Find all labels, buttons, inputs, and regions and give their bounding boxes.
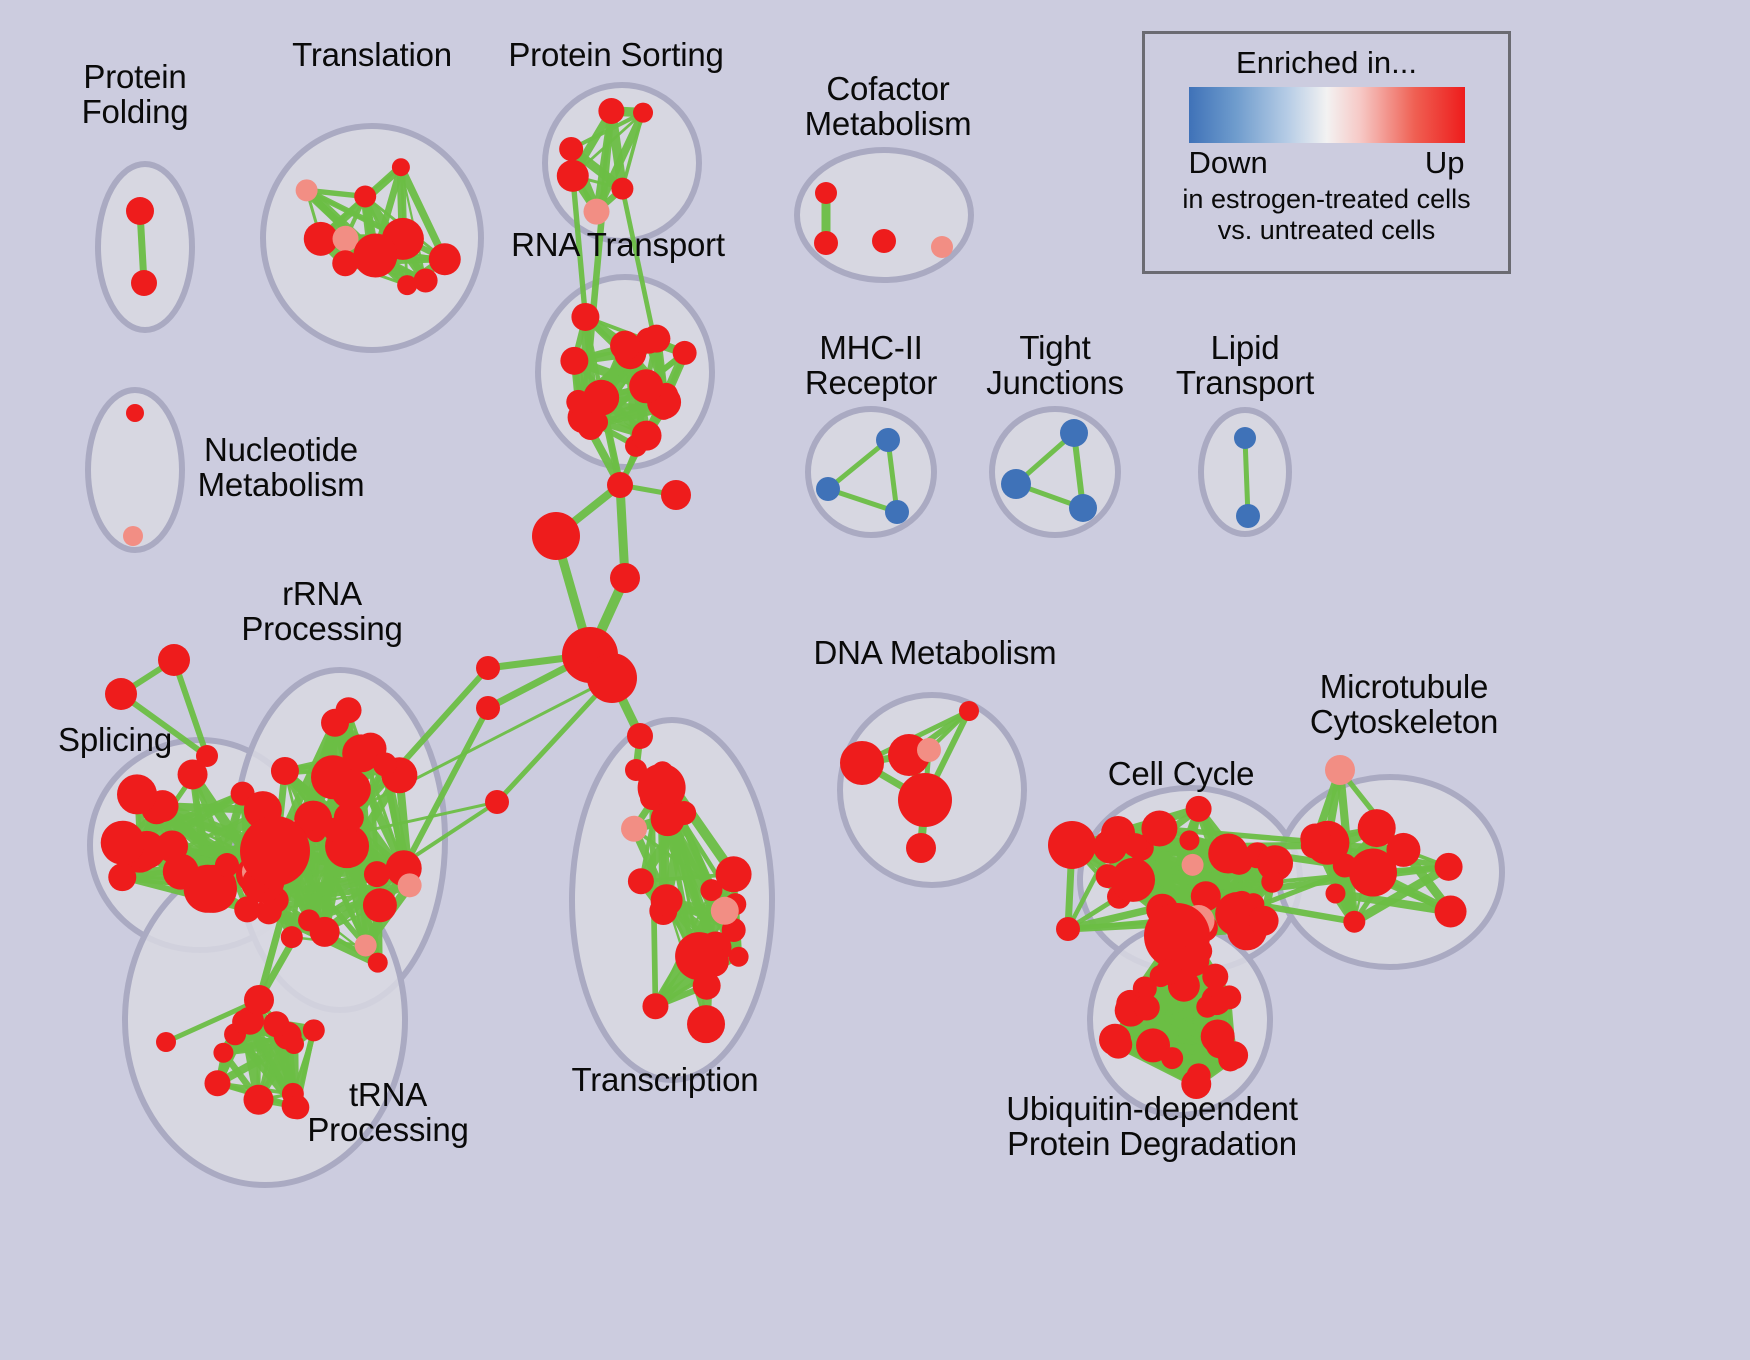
- network-node[interactable]: [123, 526, 143, 546]
- network-node[interactable]: [532, 512, 580, 560]
- network-node[interactable]: [584, 199, 610, 225]
- network-node[interactable]: [1343, 911, 1365, 933]
- network-node[interactable]: [263, 1011, 289, 1037]
- network-node[interactable]: [627, 723, 653, 749]
- network-node[interactable]: [234, 896, 260, 922]
- network-node[interactable]: [711, 897, 739, 925]
- legend-panel: Enriched in... Down Up in estrogen-treat…: [1142, 31, 1511, 274]
- network-node[interactable]: [476, 656, 500, 680]
- network-node[interactable]: [354, 185, 376, 207]
- network-node[interactable]: [158, 644, 190, 676]
- network-node[interactable]: [1208, 833, 1248, 873]
- network-node[interactable]: [271, 757, 299, 785]
- network-node[interactable]: [607, 472, 633, 498]
- cluster-label-cell-cycle: Cell Cycle: [1108, 757, 1255, 792]
- network-node[interactable]: [642, 993, 668, 1019]
- cluster-label-tight-junctions: Tight Junctions: [986, 331, 1124, 400]
- cluster-label-trna-processing: tRNA Processing: [307, 1078, 468, 1147]
- enrichment-network-figure: Protein FoldingTranslationProtein Sortin…: [0, 0, 1750, 1360]
- network-node[interactable]: [1093, 830, 1127, 864]
- network-node[interactable]: [1182, 854, 1204, 876]
- network-node[interactable]: [571, 303, 599, 331]
- network-node[interactable]: [105, 678, 137, 710]
- network-node[interactable]: [1187, 1063, 1211, 1087]
- network-node[interactable]: [598, 98, 624, 124]
- network-node[interactable]: [1435, 853, 1463, 881]
- network-node[interactable]: [629, 369, 663, 403]
- network-node[interactable]: [368, 953, 388, 973]
- network-node[interactable]: [621, 816, 647, 842]
- network-node[interactable]: [429, 243, 461, 275]
- network-node[interactable]: [333, 226, 359, 252]
- network-node[interactable]: [285, 1095, 309, 1119]
- network-node[interactable]: [687, 1005, 725, 1043]
- network-node[interactable]: [1048, 821, 1096, 869]
- network-node[interactable]: [353, 234, 397, 278]
- network-node[interactable]: [610, 331, 640, 361]
- network-node[interactable]: [1060, 419, 1088, 447]
- network-node[interactable]: [414, 268, 438, 292]
- network-node[interactable]: [204, 1070, 230, 1096]
- network-node[interactable]: [1217, 985, 1241, 1009]
- network-node[interactable]: [1141, 810, 1177, 846]
- legend-subtitle: in estrogen-treated cells vs. untreated …: [1182, 184, 1470, 246]
- network-node[interactable]: [675, 932, 723, 980]
- network-node[interactable]: [654, 400, 674, 420]
- cluster-label-ubiquitin-degradation: Ubiquitin-dependent Protein Degradation: [1006, 1092, 1298, 1161]
- network-node[interactable]: [1325, 883, 1345, 903]
- network-node[interactable]: [560, 347, 588, 375]
- network-node[interactable]: [213, 1043, 233, 1063]
- network-node[interactable]: [392, 158, 410, 176]
- network-node[interactable]: [364, 861, 390, 887]
- network-node[interactable]: [485, 790, 509, 814]
- network-node[interactable]: [898, 773, 952, 827]
- network-node[interactable]: [1249, 906, 1279, 936]
- network-node[interactable]: [1325, 755, 1355, 785]
- network-node[interactable]: [814, 231, 838, 255]
- network-node[interactable]: [587, 653, 637, 703]
- cluster-label-mhc-ii-receptor: MHC-II Receptor: [805, 331, 937, 400]
- network-node[interactable]: [303, 1019, 325, 1041]
- network-node[interactable]: [397, 275, 417, 295]
- network-node[interactable]: [310, 917, 340, 947]
- network-node[interactable]: [126, 404, 144, 422]
- network-node[interactable]: [1161, 1047, 1183, 1069]
- cluster-label-rna-transport: RNA Transport: [511, 228, 725, 263]
- network-node[interactable]: [1001, 469, 1031, 499]
- network-node[interactable]: [156, 1032, 176, 1052]
- network-node[interactable]: [215, 853, 239, 877]
- network-node[interactable]: [672, 801, 696, 825]
- legend-endpoint-labels: Down Up: [1189, 145, 1465, 181]
- network-node[interactable]: [355, 934, 377, 956]
- network-node[interactable]: [1435, 895, 1467, 927]
- network-node[interactable]: [1056, 917, 1080, 941]
- network-node[interactable]: [323, 818, 347, 842]
- legend-subtitle-line1: in estrogen-treated cells: [1182, 184, 1470, 215]
- network-node[interactable]: [1186, 796, 1212, 822]
- network-node[interactable]: [101, 821, 145, 865]
- network-node[interactable]: [1230, 891, 1254, 915]
- network-node[interactable]: [700, 879, 722, 901]
- cluster-label-transcription: Transcription: [572, 1063, 759, 1098]
- network-node[interactable]: [331, 769, 371, 809]
- network-node[interactable]: [557, 160, 589, 192]
- network-node[interactable]: [1349, 849, 1397, 897]
- network-node[interactable]: [363, 888, 397, 922]
- network-node[interactable]: [336, 697, 362, 723]
- network-node[interactable]: [126, 197, 154, 225]
- network-node[interactable]: [628, 868, 654, 894]
- network-node[interactable]: [243, 1085, 273, 1115]
- legend-subtitle-line2: vs. untreated cells: [1182, 215, 1470, 246]
- network-node[interactable]: [931, 236, 953, 258]
- network-node[interactable]: [840, 741, 884, 785]
- legend-high-label: Up: [1425, 145, 1465, 181]
- network-node[interactable]: [559, 137, 583, 161]
- network-node[interactable]: [240, 816, 310, 886]
- network-node[interactable]: [673, 341, 697, 365]
- network-node[interactable]: [876, 428, 900, 452]
- network-node[interactable]: [633, 103, 653, 123]
- network-node[interactable]: [1155, 959, 1181, 985]
- network-node[interactable]: [476, 696, 500, 720]
- network-node[interactable]: [131, 270, 157, 296]
- cluster-label-nucleotide-metabolism: Nucleotide Metabolism: [198, 433, 365, 502]
- network-node[interactable]: [1186, 938, 1212, 964]
- network-node[interactable]: [373, 752, 397, 776]
- network-node[interactable]: [332, 250, 358, 276]
- network-node[interactable]: [566, 390, 590, 414]
- network-node[interactable]: [816, 477, 840, 501]
- cluster-label-translation: Translation: [292, 38, 452, 73]
- network-node[interactable]: [156, 830, 188, 862]
- network-node[interactable]: [284, 1034, 304, 1054]
- network-node[interactable]: [1236, 504, 1260, 528]
- network-node[interactable]: [398, 873, 422, 897]
- network-node[interactable]: [651, 884, 683, 916]
- network-node[interactable]: [1134, 995, 1160, 1021]
- network-node[interactable]: [610, 563, 640, 593]
- network-node[interactable]: [196, 745, 218, 767]
- network-node[interactable]: [611, 178, 633, 200]
- cluster-label-rrna-processing: rRNA Processing: [241, 577, 402, 646]
- network-node[interactable]: [872, 229, 896, 253]
- network-node[interactable]: [661, 480, 691, 510]
- network-node[interactable]: [917, 738, 941, 762]
- network-node[interactable]: [1096, 864, 1120, 888]
- network-node[interactable]: [1099, 1024, 1131, 1056]
- network-node[interactable]: [1179, 830, 1199, 850]
- network-node[interactable]: [632, 421, 662, 451]
- network-node[interactable]: [1358, 809, 1396, 847]
- network-node[interactable]: [906, 833, 936, 863]
- legend-title: Enriched in...: [1236, 45, 1417, 81]
- legend-gradient-bar: [1189, 87, 1465, 143]
- cluster-label-cofactor-metabolism: Cofactor Metabolism: [805, 72, 972, 141]
- cluster-label-microtubule-cytoskeleton: Microtubule Cytoskeleton: [1310, 670, 1498, 739]
- network-node[interactable]: [1202, 964, 1228, 990]
- network-node[interactable]: [1069, 494, 1097, 522]
- network-node[interactable]: [1196, 996, 1218, 1018]
- network-node[interactable]: [1220, 1041, 1248, 1069]
- network-node[interactable]: [1300, 823, 1330, 853]
- cluster-label-protein-folding: Protein Folding: [82, 60, 189, 129]
- network-node[interactable]: [1234, 427, 1256, 449]
- network-node[interactable]: [729, 947, 749, 967]
- network-node[interactable]: [117, 774, 157, 814]
- cluster-label-lipid-transport: Lipid Transport: [1176, 331, 1314, 400]
- network-node[interactable]: [281, 926, 303, 948]
- network-node[interactable]: [815, 182, 837, 204]
- network-node[interactable]: [642, 325, 670, 353]
- cluster-label-dna-metabolism: DNA Metabolism: [814, 636, 1057, 671]
- network-node[interactable]: [1261, 871, 1283, 893]
- network-node[interactable]: [885, 500, 909, 524]
- cluster-label-splicing: Splicing: [58, 723, 172, 758]
- network-node[interactable]: [959, 701, 979, 721]
- legend-low-label: Down: [1189, 145, 1268, 181]
- network-node[interactable]: [108, 863, 136, 891]
- network-node[interactable]: [586, 411, 608, 433]
- network-node[interactable]: [244, 985, 274, 1015]
- network-node[interactable]: [296, 179, 318, 201]
- cluster-label-protein-sorting: Protein Sorting: [508, 38, 723, 73]
